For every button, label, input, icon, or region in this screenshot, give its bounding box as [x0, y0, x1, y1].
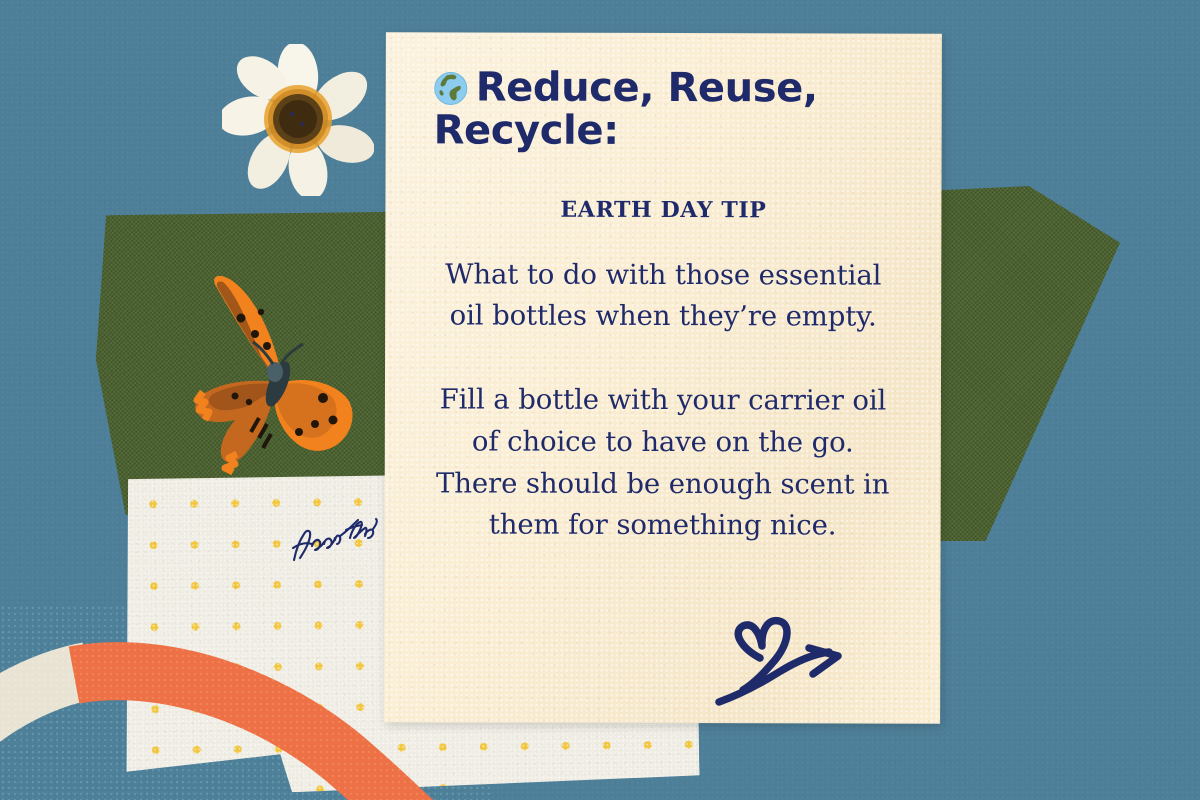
- paragraph-1: What to do with those essential oil bott…: [433, 254, 893, 339]
- butterfly-right-wing: [275, 380, 353, 451]
- ribbon-orange-segment: [74, 671, 422, 800]
- body-line: There should be enough scent in: [433, 463, 893, 506]
- page-title: Reduce, Reuse, Recycle:: [434, 66, 912, 153]
- flower-center-rays: [264, 85, 332, 153]
- flower-svg: [222, 44, 374, 196]
- body-line: of choice to have on the go.: [433, 421, 893, 464]
- signature-svg: [288, 512, 380, 568]
- poster-canvas: Reduce, Reuse, Recycle: Earth Day Tip Wh…: [0, 0, 1200, 800]
- body-line: What to do with those essential: [433, 254, 893, 297]
- butterfly-svg: [175, 272, 370, 487]
- body-line: them for something nice.: [433, 505, 893, 548]
- body-line: oil bottles when they’re empty.: [433, 296, 893, 339]
- card-content: Reduce, Reuse, Recycle: Earth Day Tip Wh…: [385, 32, 942, 548]
- subtitle: Earth Day Tip: [415, 196, 911, 223]
- heart-arrow-svg: [705, 612, 880, 727]
- butterfly-upper-left-wing: [214, 276, 279, 377]
- pressed-white-daisy-icon: [222, 44, 374, 196]
- earth-globe-americas-icon: [434, 71, 468, 105]
- orange-butterfly-icon: [175, 272, 370, 487]
- body-line: Fill a bottle with your carrier oil: [433, 379, 893, 422]
- paragraph-2: Fill a bottle with your carrier oil of c…: [433, 379, 893, 547]
- page-title-text: Reduce, Reuse, Recycle:: [434, 65, 818, 154]
- signature-aroma-thyme: [288, 512, 380, 568]
- heart-with-arrow-doodle: [705, 612, 880, 727]
- ribbon-cream-segment: [0, 671, 88, 737]
- body-copy: What to do with those essential oil bott…: [433, 254, 894, 548]
